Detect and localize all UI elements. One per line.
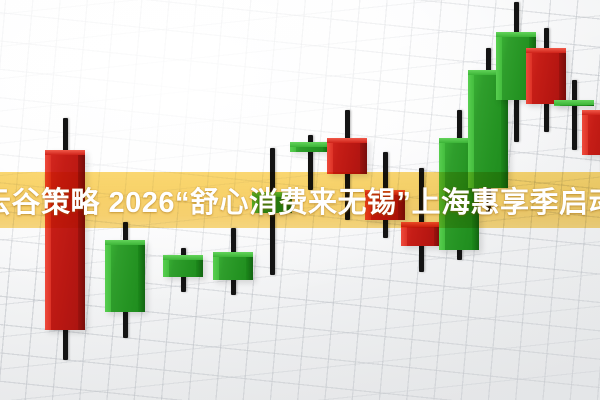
candlestick-top-cap (582, 110, 600, 115)
candlestick-top-cap (290, 142, 330, 147)
candlestick-highlight-edge (582, 110, 588, 155)
candlestick-body-down (327, 138, 367, 174)
candlestick-top-cap (105, 240, 145, 245)
candlestick-top-cap (327, 138, 367, 143)
candlestick-highlight-edge (526, 48, 532, 104)
candlestick-shadow-edge (138, 240, 145, 312)
candlestick-body-up (105, 240, 145, 312)
candlestick-body-up (163, 255, 203, 277)
candlestick-wick (572, 80, 577, 150)
candlestick-highlight-edge (327, 138, 333, 174)
candlestick-body-up (213, 252, 253, 280)
candlestick-top-cap (213, 252, 253, 257)
candlestick-highlight-edge (468, 70, 474, 188)
candlestick-body-down (582, 110, 600, 155)
candlestick-top-cap (163, 255, 203, 260)
candlestick-highlight-edge (496, 32, 502, 100)
headline-text: 云谷策略 2026“舒心消费来无锡”上海惠享季启动 (0, 179, 600, 221)
candlestick-banner-image: 云谷策略 2026“舒心消费来无锡”上海惠享季启动 (0, 0, 600, 400)
headline-banner: 云谷策略 2026“舒心消费来无锡”上海惠享季启动 (0, 172, 600, 228)
candlestick-highlight-edge (105, 240, 111, 312)
candlestick-body-up (290, 142, 330, 152)
candlestick-top-cap (45, 150, 85, 155)
